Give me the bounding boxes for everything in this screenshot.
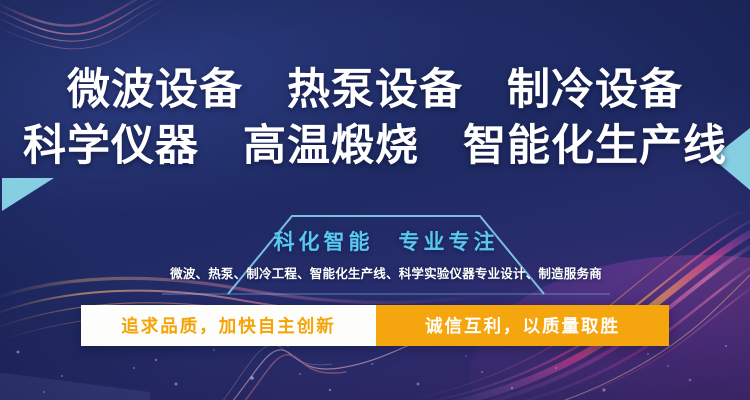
slogan-integrity-button[interactable]: 诚信互利，以质量取胜 bbox=[376, 305, 669, 346]
left-arrow-triangle-icon bbox=[2, 178, 54, 211]
slogan-bar: 追求品质，加快自主创新 诚信互利，以质量取胜 bbox=[81, 305, 669, 346]
promo-banner: 微波设备 热泵设备 制冷设备 科学仪器 高温煅烧 智能化生产线 科化智能 专业专… bbox=[0, 0, 750, 400]
headline-line-1: 微波设备 热泵设备 制冷设备 bbox=[0, 62, 750, 118]
headline-line-2: 科学仪器 高温煅烧 智能化生产线 bbox=[0, 118, 750, 174]
slogan-quality-button[interactable]: 追求品质，加快自主创新 bbox=[81, 305, 376, 346]
subtitle-text: 科化智能 专业专注 bbox=[160, 226, 612, 256]
subtitle-plate: 科化智能 专业专注 微波、热泵、制冷工程、智能化生产线、科学实验仪器专业设计、制… bbox=[160, 212, 612, 296]
description-text: 微波、热泵、制冷工程、智能化生产线、科学实验仪器专业设计、制造服务商 bbox=[160, 263, 612, 282]
headline-block: 微波设备 热泵设备 制冷设备 科学仪器 高温煅烧 智能化生产线 bbox=[0, 62, 750, 174]
